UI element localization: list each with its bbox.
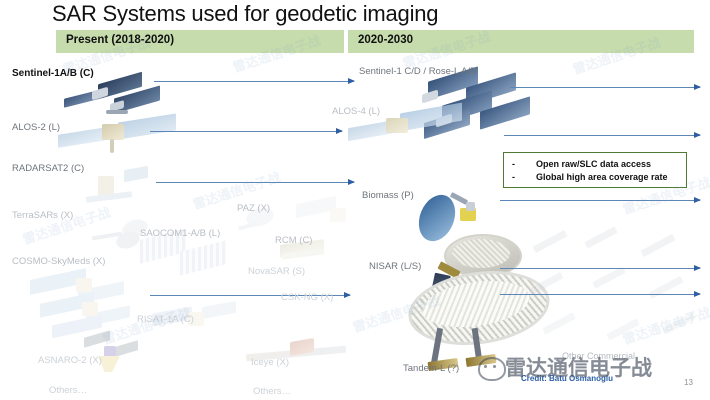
watermark-tile: 雷达通信电子战 (350, 290, 442, 336)
label-tandem-l: Tandem-L (?) (403, 363, 459, 374)
label-paz: PAZ (X) (237, 203, 270, 214)
satellite-art-other-commercial (522, 228, 702, 358)
label-saocom1: SAOCOM1-A/B (L) (140, 228, 220, 239)
label-rcm: RCM (C) (275, 235, 312, 246)
satellite-art-alos2 (58, 115, 178, 155)
label-alos-4: ALOS-4 (L) (332, 106, 380, 117)
label-csk-ng: CSK-NG (X) (281, 292, 333, 303)
label-asnaro-2: ASNARO-2 (X) (38, 355, 102, 366)
label-risat-1a: RISAT-1A (C) (137, 314, 194, 325)
arrow-radarsat (156, 182, 354, 183)
column-header-future-label: 2020-2030 (358, 34, 413, 46)
callout-box: - Open raw/SLC data access - Global high… (503, 152, 687, 188)
column-header-present: Present (2018-2020) (56, 30, 344, 53)
label-others-left: Others… (49, 385, 87, 396)
label-terrasars: TerraSARs (X) (12, 210, 73, 221)
arrow-alos-future (504, 135, 700, 136)
callout-bullet-1: - (512, 159, 515, 169)
satellite-art-radarsat2 (86, 168, 176, 208)
label-sentinel-1cd-rosel: Sentinel-1 C/D / Rose-L A/B (359, 66, 476, 77)
label-nisar: NISAR (L/S) (369, 261, 421, 272)
label-biomass: Biomass (P) (362, 190, 414, 201)
satellite-art-biomass (420, 192, 490, 248)
label-novasar: NovaSAR (S) (248, 266, 305, 277)
page-number: 13 (684, 378, 693, 387)
satellite-art-nisar (432, 234, 524, 308)
callout-bullet-2: - (512, 172, 515, 182)
label-cosmo-skymeds: COSMO-SkyMeds (X) (12, 256, 105, 267)
watermark-tile: 雷达通信电子战 (620, 302, 710, 348)
label-alos-2: ALOS-2 (L) (12, 122, 60, 133)
watermark-tile: 雷达通信电子战 (20, 202, 112, 248)
column-header-present-label: Present (2018-2020) (66, 34, 174, 46)
watermark-mascot-icon (478, 357, 506, 381)
label-radarsat2: RADARSAT2 (C) (12, 163, 84, 174)
arrow-alos (150, 131, 342, 132)
label-others-mid: Others… (253, 386, 291, 397)
label-sentinel-1ab: Sentinel-1A/B (C) (12, 68, 94, 79)
satellite-art-novasar (296, 200, 356, 240)
arrow-tandem-future (500, 294, 700, 295)
page-title: SAR Systems used for geodetic imaging (52, 1, 438, 27)
column-header-future: 2020-2030 (348, 30, 694, 53)
callout-item-2: Global high area coverage rate (536, 172, 668, 182)
arrow-sentinel1 (154, 81, 354, 82)
arrow-biomass-future (500, 200, 700, 201)
arrow-nisar-future (500, 268, 700, 269)
callout-item-1: Open raw/SLC data access (536, 159, 651, 169)
satellite-art-sentinel1cd-rosel (418, 72, 548, 152)
slide-canvas: SAR Systems used for geodetic imaging Pr… (0, 0, 710, 400)
satellite-art-cosmo-skymed (30, 268, 150, 348)
watermark-text: 雷达通信电子战 (505, 352, 652, 382)
label-iceye: Iceye (X) (251, 357, 289, 368)
arrow-sentinel1-future (510, 87, 700, 88)
